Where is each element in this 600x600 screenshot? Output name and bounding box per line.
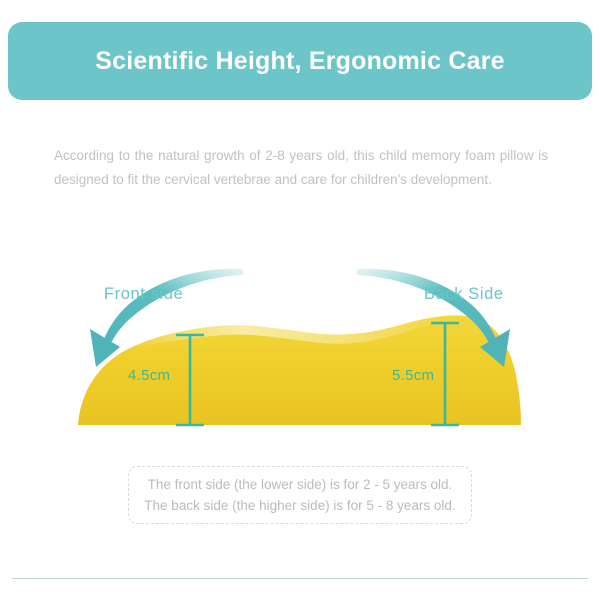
page-title: Scientific Height, Ergonomic Care <box>95 47 504 76</box>
age-info-line-back: The back side (the higher side) is for 5… <box>144 495 455 516</box>
front-side-label: Front side <box>104 285 183 304</box>
banner-pointer-triangle <box>270 77 330 96</box>
age-info-line-front: The front side (the lower side) is for 2… <box>148 474 453 495</box>
back-height-label: 5.5cm <box>392 367 434 384</box>
pillow-illustration: Front side Back Side 4.5cm 5.5cm <box>0 255 600 450</box>
description-paragraph: According to the natural growth of 2-8 y… <box>54 144 548 192</box>
pillow-profile-svg <box>0 255 600 450</box>
age-info-box: The front side (the lower side) is for 2… <box>128 466 472 524</box>
front-height-label: 4.5cm <box>128 367 170 384</box>
bottom-divider <box>12 578 588 579</box>
back-side-label: Back Side <box>424 285 504 304</box>
